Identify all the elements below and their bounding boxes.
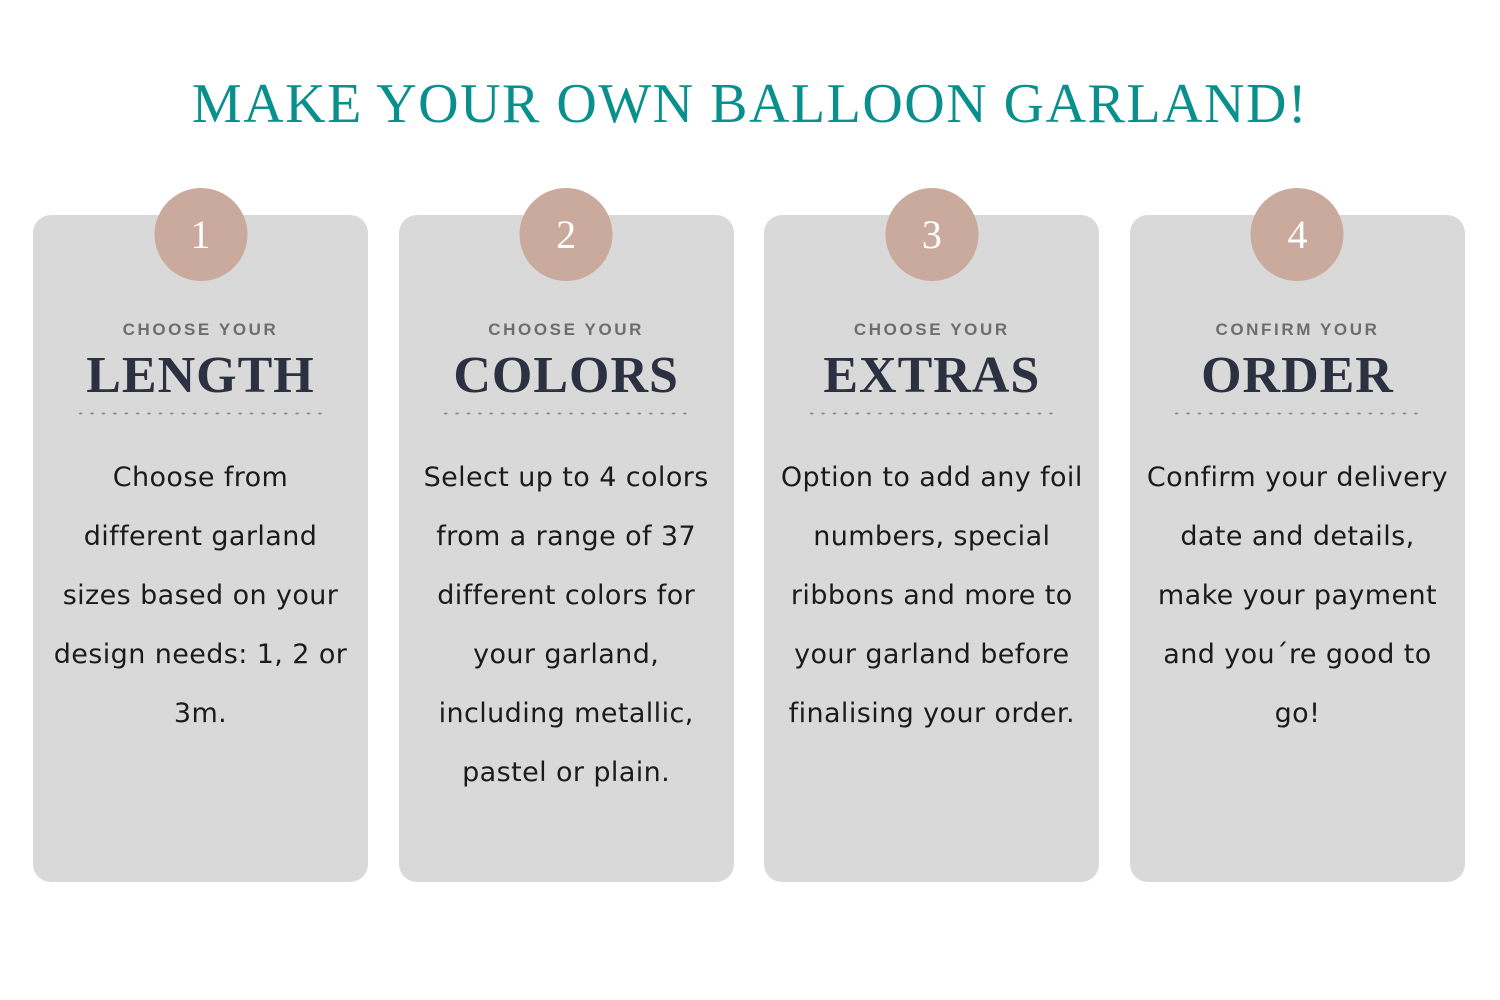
step-card-colors[interactable]: 2 CHOOSE YOUR COLORS Select up to 4 colo… [399,215,734,882]
step-description: Choose from different garland sizes base… [49,448,352,743]
step-eyebrow-label: CONFIRM YOUR [1130,320,1465,340]
dotted-divider [440,411,692,416]
step-description: Select up to 4 colors from a range of 37… [415,448,718,802]
step-number-badge: 1 [154,188,247,281]
dotted-divider [75,411,327,416]
steps-row: 1 CHOOSE YOUR LENGTH Choose from differe… [33,215,1465,882]
step-description: Option to add any foil numbers, special … [778,448,1085,743]
step-eyebrow-label: CHOOSE YOUR [33,320,368,340]
step-eyebrow-label: CHOOSE YOUR [764,320,1099,340]
step-heading: COLORS [399,345,734,407]
step-heading: EXTRAS [764,345,1099,407]
step-number-badge: 2 [520,188,613,281]
step-card-order[interactable]: 4 CONFIRM YOUR ORDER Confirm your delive… [1130,215,1465,882]
page-title: MAKE YOUR OWN BALLOON GARLAND! [0,72,1500,136]
step-eyebrow-label: CHOOSE YOUR [399,320,734,340]
step-card-length[interactable]: 1 CHOOSE YOUR LENGTH Choose from differe… [33,215,368,882]
step-card-extras[interactable]: 3 CHOOSE YOUR EXTRAS Option to add any f… [764,215,1099,882]
step-heading: LENGTH [33,345,368,407]
dotted-divider [1171,411,1423,416]
dotted-divider [806,411,1058,416]
step-number-badge: 3 [885,188,978,281]
step-description: Confirm your delivery date and details, … [1144,448,1451,743]
step-number-badge: 4 [1251,188,1344,281]
infographic-page: MAKE YOUR OWN BALLOON GARLAND! 1 CHOOSE … [0,0,1500,1000]
step-heading: ORDER [1130,345,1465,407]
